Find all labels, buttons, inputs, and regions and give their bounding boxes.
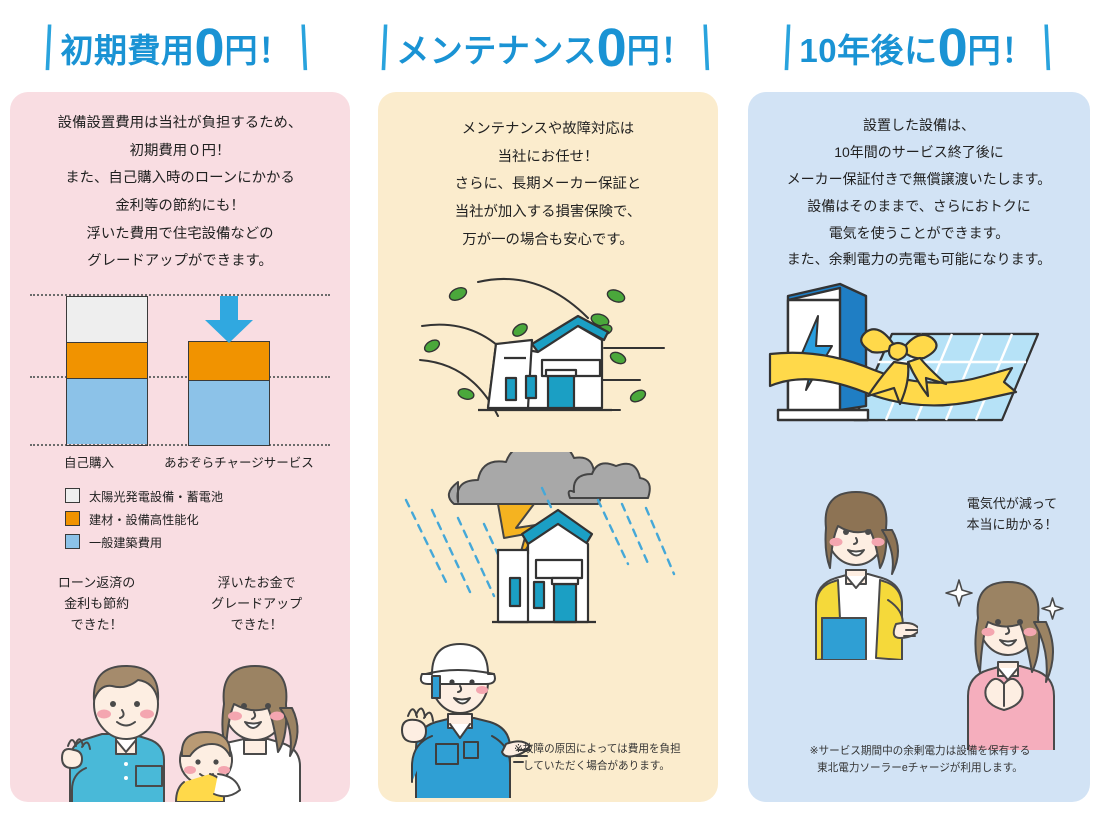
body-line: 当社にお任せ！ (388, 144, 708, 172)
legend-swatch-general (65, 534, 80, 549)
body-line: さらに、長期メーカー保証と (388, 171, 708, 199)
bar-aozora-service (188, 341, 270, 446)
body-line: グレードアップができます。 (20, 248, 340, 276)
caption-line: ローン返済の (58, 573, 135, 594)
panel-after-ten-years: 設置した設備は、 10年間のサービス終了後に メーカー保証付きで無償譲渡いたしま… (748, 92, 1090, 802)
chart-category-row: 自己購入 あおぞらチャージサービス (30, 452, 330, 471)
header-suffix: 円！ (225, 24, 292, 72)
panel1-body: 設備設置費用は当社が負担するため、 初期費用０円！ また、自己購入時のローンにか… (10, 92, 350, 276)
header-zero: 0 (938, 24, 968, 73)
body-line: 初期費用０円！ (20, 138, 340, 166)
header-suffix: 円！ (968, 24, 1035, 72)
body-line: メンテナンスや故障対応は (388, 116, 708, 144)
legend-item: 太陽光発電設備・蓄電池 (65, 487, 295, 505)
caption-grade-up: 浮いたお金で グレードアップ できた！ (211, 573, 302, 635)
body-line: また、自己購入時のローンにかかる (20, 165, 340, 193)
house-in-wind-illustration (392, 268, 704, 448)
caption-line: 金利も節約 (58, 594, 135, 615)
footnote-line: ※故障の原因によっては費用を負担 (514, 741, 714, 757)
chart-legend: 太陽光発電設備・蓄電池 建材・設備高性能化 一般建築費用 (65, 487, 295, 551)
header-text: 10年後に (799, 24, 937, 72)
slash-left-icon: \ (773, 17, 801, 79)
legend-item: 一般建築費用 (65, 533, 295, 551)
battery-solar-gift-illustration (766, 270, 1072, 446)
legend-item: 建材・設備高性能化 (65, 510, 295, 528)
panel1-captions: ローン返済の 金利も節約 できた！ 浮いたお金で グレードアップ できた！ (10, 573, 350, 635)
footnote-line: 東北電力ソーラーeチャージが利用します。 (764, 760, 1076, 776)
slash-right-icon: / (692, 17, 720, 79)
header-text: 初期費用 (60, 24, 194, 72)
category-label-service: あおぞらチャージサービス (148, 452, 330, 471)
body-line: 電気を使うことができます。 (758, 220, 1080, 247)
body-line: 設備設置費用は当社が負担するため、 (20, 110, 340, 138)
speech-line: 本当に助かる！ (946, 515, 1078, 536)
caption-line: 浮いたお金で (211, 573, 302, 594)
panel2-body: メンテナンスや故障対応は 当社にお任せ！ さらに、長期メーカー保証と 当社が加入… (378, 92, 718, 254)
legend-swatch-material (65, 511, 80, 526)
header-suffix: 円！ (627, 24, 694, 72)
legend-label: 建材・設備高性能化 (89, 510, 199, 528)
header-initial-cost: \ 初期費用 0 円！ / (0, 14, 352, 82)
category-label-self: 自己購入 (30, 452, 148, 471)
bar-self-purchase (66, 296, 148, 446)
caption-line: できた！ (211, 615, 302, 636)
cost-comparison-chart (30, 294, 330, 446)
happy-woman-illustration (944, 560, 1072, 750)
body-line: 設置した設備は、 (758, 112, 1080, 139)
speech-line: 電気代が減って (946, 494, 1078, 515)
arrow-down-icon (203, 296, 255, 344)
header-zero: 0 (597, 24, 627, 73)
slash-right-icon: / (290, 17, 318, 79)
bar-seg-material (189, 342, 269, 380)
legend-label: 太陽光発電設備・蓄電池 (89, 487, 223, 505)
body-line: 万が一の場合も安心です。 (388, 227, 708, 255)
slash-left-icon: \ (34, 17, 62, 79)
header-text: メンテナンス (396, 24, 596, 72)
woman-with-folder-illustration (788, 470, 918, 660)
panel-initial-cost: 設備設置費用は当社が負担するため、 初期費用０円！ また、自己購入時のローンにか… (10, 92, 350, 802)
caption-line: できた！ (58, 615, 135, 636)
header-zero: 0 (194, 24, 224, 73)
caption-line: グレードアップ (211, 594, 302, 615)
panel-maintenance: メンテナンスや故障対応は 当社にお任せ！ さらに、長期メーカー保証と 当社が加入… (378, 92, 718, 802)
header-maintenance: \ メンテナンス 0 円！ / (362, 14, 728, 82)
infographic-board: \ 初期費用 0 円！ / \ メンテナンス 0 円！ / \ 10年後に 0 … (0, 0, 1100, 818)
body-line: 浮いた費用で住宅設備などの (20, 221, 340, 249)
panel2-footnote: ※故障の原因によっては費用を負担 していただく場合があります。 (514, 741, 714, 774)
legend-label: 一般建築費用 (89, 533, 162, 551)
body-line: 設備はそのままで、さらにおトクに (758, 193, 1080, 220)
bar-seg-general (67, 378, 147, 444)
house-in-thunderstorm-illustration (392, 452, 704, 638)
bar-seg-material (67, 342, 147, 378)
caption-loan-interest: ローン返済の 金利も節約 できた！ (58, 573, 135, 635)
bar-seg-general (189, 380, 269, 445)
footnote-line: していただく場合があります。 (514, 758, 714, 774)
footnote-line: ※サービス期間中の余剰電力は設備を保有する (764, 743, 1076, 759)
panel3-speech: 電気代が減って 本当に助かる！ (946, 494, 1078, 536)
family-illustration (28, 642, 328, 802)
header-after-ten-years: \ 10年後に 0 円！ / (734, 14, 1100, 82)
panel3-footnote: ※サービス期間中の余剰電力は設備を保有する 東北電力ソーラーeチャージが利用しま… (764, 743, 1076, 776)
body-line: 10年間のサービス終了後に (758, 139, 1080, 166)
legend-swatch-solar (65, 488, 80, 503)
body-line: 金利等の節約にも！ (20, 193, 340, 221)
bar-seg-solar (67, 297, 147, 342)
slash-left-icon: \ (370, 17, 398, 79)
panel3-body: 設置した設備は、 10年間のサービス終了後に メーカー保証付きで無償譲渡いたしま… (748, 92, 1090, 273)
slash-right-icon: / (1033, 17, 1061, 79)
body-line: メーカー保証付きで無償譲渡いたします。 (758, 166, 1080, 193)
body-line: 当社が加入する損害保険で、 (388, 199, 708, 227)
